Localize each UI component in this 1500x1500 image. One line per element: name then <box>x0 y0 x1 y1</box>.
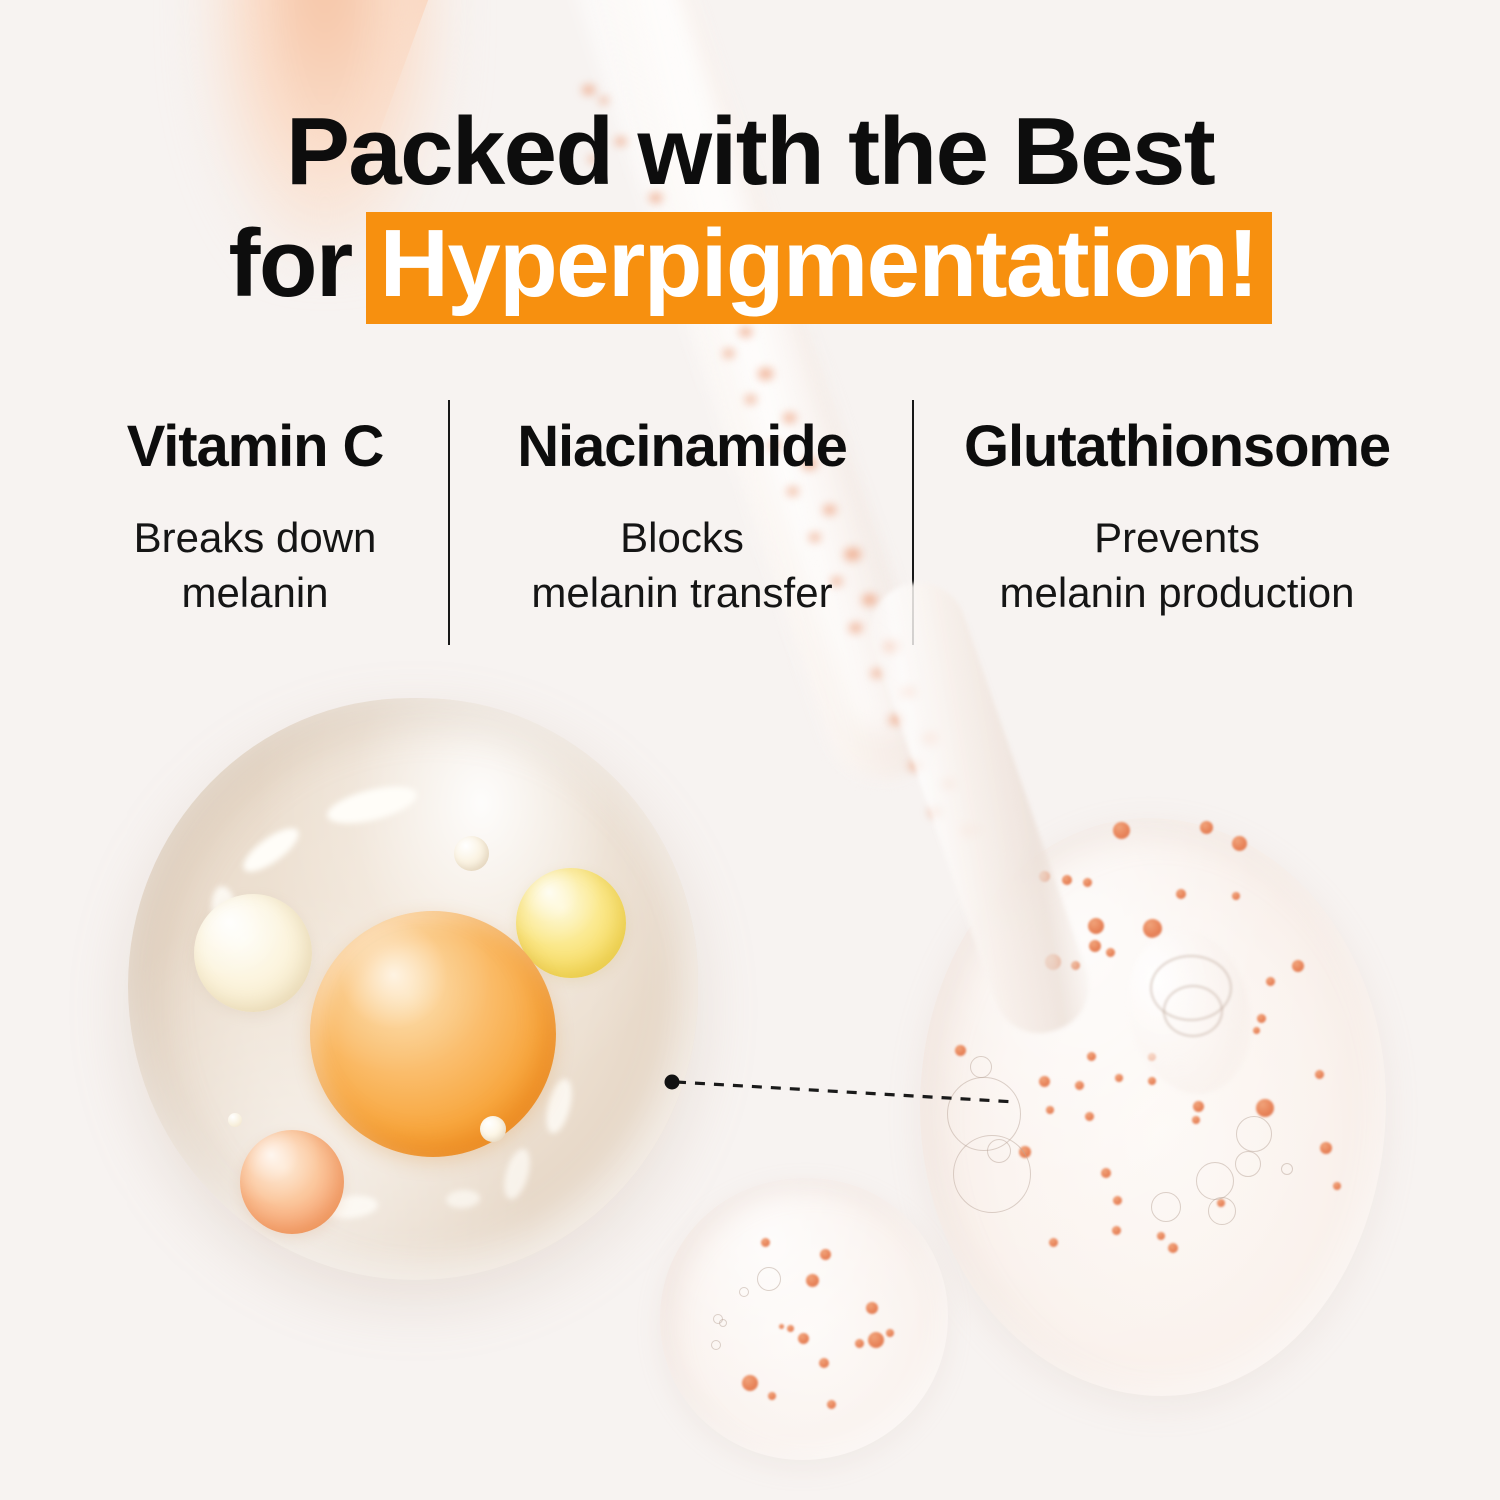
serum-bead <box>1315 1070 1324 1079</box>
ingredient-description: Prevents melanin production <box>914 510 1440 620</box>
serum-bead <box>1115 1074 1123 1082</box>
droplet-specular-2 <box>237 821 305 879</box>
ingredient-desc-line-1: Prevents <box>1094 514 1260 561</box>
serum-bead <box>1062 875 1072 885</box>
ingredient-name: Vitamin C <box>60 414 450 480</box>
serum-bead <box>1266 977 1275 986</box>
serum-bead <box>1085 1112 1094 1121</box>
serum-bead <box>1083 878 1092 887</box>
serum-bead <box>886 1329 894 1337</box>
bubble-ring <box>1151 1192 1181 1222</box>
serum-bead <box>1089 940 1101 952</box>
ingredient-column-glutathionsome: Glutathionsome Prevents melanin producti… <box>914 398 1440 648</box>
bubble-ring <box>1236 1116 1272 1152</box>
ingredient-description: Breaks down melanin <box>60 510 450 620</box>
serum-bead <box>1232 836 1247 851</box>
infographic-canvas: Packed with the Best forHyperpigmentatio… <box>0 0 1500 1500</box>
serum-bead <box>1049 1238 1058 1247</box>
serum-bead <box>1253 1027 1260 1034</box>
pipette-bead <box>582 85 596 96</box>
serum-bead <box>866 1302 878 1314</box>
ingredient-desc-line-2: melanin transfer <box>531 569 832 616</box>
serum-bead <box>868 1332 884 1348</box>
cream-sphere <box>194 894 312 1012</box>
ingredient-desc-line-1: Breaks down <box>134 514 377 561</box>
serum-bead <box>1148 1077 1156 1085</box>
serum-bead <box>1168 1243 1178 1253</box>
bubble-ring <box>1196 1162 1234 1200</box>
ingredient-column-niacinamide: Niacinamide Blocks melanin transfer <box>450 398 914 648</box>
bubble-ring <box>719 1319 727 1327</box>
micro-sphere-2 <box>480 1116 506 1142</box>
serum-bead <box>1176 889 1186 899</box>
serum-bead <box>819 1358 829 1368</box>
serum-bead <box>1192 1116 1200 1124</box>
headline-line-2: forHyperpigmentation! <box>0 208 1500 324</box>
droplet-specular-7 <box>445 1189 480 1209</box>
pipette-bead <box>758 368 774 380</box>
ingredient-columns: Vitamin C Breaks down melanin Niacinamid… <box>60 398 1440 648</box>
glutathione-sphere <box>240 1130 344 1234</box>
micro-sphere-1 <box>454 836 489 871</box>
pipette-bead <box>723 349 735 358</box>
headline-line-1: Packed with the Best <box>286 98 1214 205</box>
bubble-ring <box>1281 1163 1293 1175</box>
serum-bead <box>779 1324 784 1329</box>
serum-bead <box>1232 892 1240 900</box>
pipette-tip-ring-inner <box>1163 985 1223 1037</box>
serum-bead <box>1320 1142 1332 1154</box>
magnification-callout-line <box>640 1040 1060 1160</box>
headline-highlight: Hyperpigmentation! <box>366 212 1272 324</box>
serum-bead <box>1333 1182 1341 1190</box>
serum-bead <box>1088 918 1104 934</box>
serum-bead <box>1200 821 1213 834</box>
serum-bead <box>768 1392 776 1400</box>
serum-bead <box>1075 1081 1084 1090</box>
serum-puddle-small <box>660 1178 948 1460</box>
serum-bead <box>820 1249 831 1260</box>
serum-bead <box>1101 1168 1111 1178</box>
droplet-specular-5 <box>499 1146 534 1202</box>
serum-bead <box>787 1325 794 1332</box>
ingredient-desc-line-2: melanin <box>181 569 328 616</box>
bubble-ring <box>1235 1151 1261 1177</box>
bubble-ring <box>711 1340 721 1350</box>
bubble-ring <box>739 1287 749 1297</box>
ingredient-desc-line-1: Blocks <box>620 514 744 561</box>
vitamin-c-sphere <box>310 911 556 1157</box>
serum-bead <box>855 1339 864 1348</box>
droplet-specular-4 <box>542 1076 577 1136</box>
micro-sphere-3 <box>228 1113 242 1127</box>
serum-macro-droplet <box>128 698 698 1280</box>
serum-bead <box>1257 1014 1266 1023</box>
serum-bead <box>1112 1226 1121 1235</box>
serum-bead <box>742 1375 758 1391</box>
serum-bead <box>1087 1052 1096 1061</box>
bubble-ring <box>1208 1197 1236 1225</box>
serum-bead <box>827 1400 836 1409</box>
serum-bead <box>1106 948 1115 957</box>
serum-bead <box>1193 1101 1204 1112</box>
ingredient-name: Glutathionsome <box>914 414 1440 480</box>
serum-bead <box>798 1333 809 1344</box>
ingredient-desc-line-2: melanin production <box>1000 569 1355 616</box>
serum-bead <box>806 1274 819 1287</box>
serum-bead <box>1256 1099 1274 1117</box>
page-title: Packed with the Best forHyperpigmentatio… <box>0 96 1500 324</box>
serum-bead <box>1113 1196 1122 1205</box>
ingredient-description: Blocks melanin transfer <box>450 510 914 620</box>
serum-bead <box>1113 822 1130 839</box>
serum-bead <box>1157 1232 1165 1240</box>
bubble-ring <box>757 1267 781 1291</box>
serum-bead <box>1292 960 1304 972</box>
ingredient-column-vitamin-c: Vitamin C Breaks down melanin <box>60 398 450 648</box>
serum-bead <box>1143 919 1162 938</box>
serum-bead <box>761 1238 770 1247</box>
ingredient-name: Niacinamide <box>450 414 914 480</box>
headline-prefix: for <box>228 210 351 317</box>
pipette-bead <box>739 327 753 338</box>
droplet-specular-1 <box>324 779 421 830</box>
